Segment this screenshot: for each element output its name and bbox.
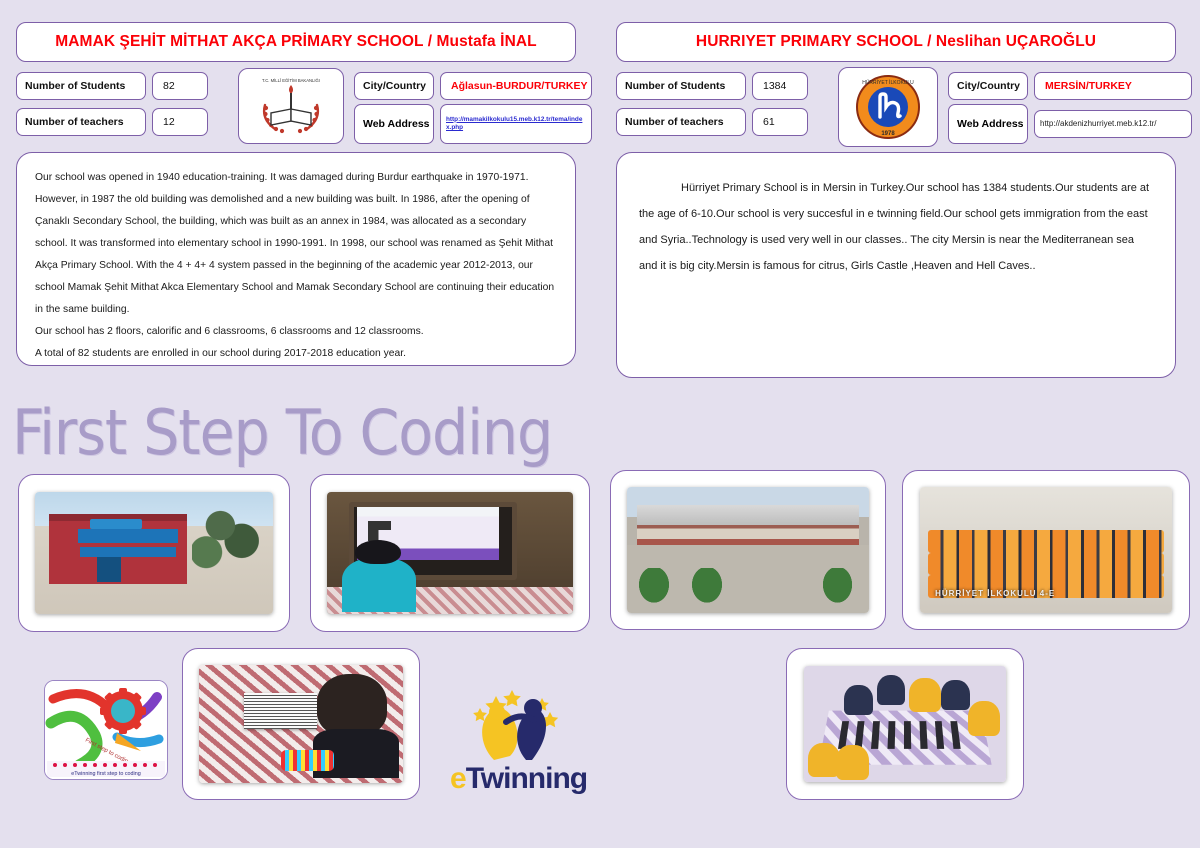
school-yard-photo [627, 487, 869, 613]
school-building-photo [35, 492, 273, 614]
description-paragraph: Hürriyet Primary School is in Mersin in … [639, 175, 1153, 279]
school-title-left: MAMAK ŞEHİT MİTHAT AKÇA PRİMARY SCHOOL /… [55, 33, 537, 51]
etwinning-rest: Twinning [466, 762, 587, 795]
city-value-left: Ağlasun-BURDUR/TURKEY [440, 72, 592, 100]
students-value-left: 82 [152, 72, 208, 100]
web-address-label-left: Web Address [354, 104, 434, 144]
ministry-logo-caption: T.C. MİLLÎ EĞİTİM BAKANLIĞI [262, 78, 320, 83]
students-label-right: Number of Students [616, 72, 746, 100]
turkish-ministry-of-education-emblem-icon: T.C. MİLLÎ EĞİTİM BAKANLIĞI [255, 75, 327, 137]
student-worksheet-photo [199, 665, 403, 783]
city-label-left: City/Country [354, 72, 434, 100]
students-activity-photo [804, 666, 1006, 782]
photo-frame-class-group: HÜRRİYET İLKOKULU 4-E [902, 470, 1190, 630]
etwinning-logo-left: eTwinning [450, 686, 586, 796]
photo-frame-student-computer [310, 474, 590, 632]
school-title-card-right: HURRIYET PRIMARY SCHOOL / Neslihan UÇARO… [616, 22, 1176, 62]
web-address-link-right[interactable]: http://akdenizhurriyet.meb.k12.tr/ [1040, 119, 1157, 129]
web-address-cell-right[interactable]: http://akdenizhurriyet.meb.k12.tr/ [1034, 110, 1192, 138]
etwinning-wordmark-left: eTwinning [450, 762, 586, 796]
description-paragraph: Our school has 2 floors, calorific and 6… [35, 321, 557, 343]
description-paragraph: Our school was opened in 1940 education-… [35, 167, 557, 321]
hurriyet-school-logo-card: HÜRRİYET İLKOKULU 1978 [838, 67, 938, 147]
description-paragraph: A total of 82 students are enrolled in o… [35, 343, 557, 365]
students-value-right: 1384 [752, 72, 808, 100]
photo-frame-school-yard [610, 470, 886, 630]
hurriyet-logo-year: 1978 [881, 131, 895, 137]
class-group-photo: HÜRRİYET İLKOKULU 4-E [920, 487, 1172, 613]
panel-left: MAMAK ŞEHİT MİTHAT AKÇA PRİMARY SCHOOL /… [0, 0, 600, 848]
photo-frame-student-worksheet [182, 648, 420, 800]
photo-frame-students-activity [786, 648, 1024, 800]
student-at-computer-photo [327, 492, 573, 614]
wordart-title-left: First Step To Coding [12, 398, 604, 470]
class-photo-caption: HÜRRİYET İLKOKULU 4-E [935, 589, 1055, 598]
teachers-label-right: Number of teachers [616, 108, 746, 136]
poster-page: MAMAK ŞEHİT MİTHAT AKÇA PRİMARY SCHOOL /… [0, 0, 1200, 848]
hurriyet-ilkokulu-emblem-icon: HÜRRİYET İLKOKULU 1978 [854, 73, 922, 141]
teachers-label-left: Number of teachers [16, 108, 146, 136]
description-card-left: Our school was opened in 1940 education-… [16, 152, 576, 366]
web-address-link-left[interactable]: http://mamakilkokulu15.meb.k12.tr/tema/i… [446, 116, 586, 133]
web-address-cell-left[interactable]: http://mamakilkokulu15.meb.k12.tr/tema/i… [440, 104, 592, 144]
students-label-left: Number of Students [16, 72, 146, 100]
teachers-value-right: 61 [752, 108, 808, 136]
coding-logo-footer: eTwinning first step to coding [71, 771, 141, 777]
description-card-right: Hürriyet Primary School is in Mersin in … [616, 152, 1176, 378]
teachers-value-left: 12 [152, 108, 208, 136]
info-strip-right: Number of Students 1384 Number of teache… [616, 70, 1176, 148]
etwinning-e: e [450, 762, 466, 795]
ministry-of-education-logo-card: T.C. MİLLÎ EĞİTİM BAKANLIĞI [238, 68, 344, 144]
info-strip-left: Number of Students 82 Number of teachers… [16, 70, 576, 148]
school-title-card-left: MAMAK ŞEHİT MİTHAT AKÇA PRİMARY SCHOOL /… [16, 22, 576, 62]
web-address-label-right: Web Address [948, 104, 1028, 144]
first-step-to-coding-logo-left: First step to coding eTwinning first ste… [44, 680, 168, 780]
coding-project-logo-icon: First step to coding eTwinning first ste… [45, 681, 167, 779]
photo-frame-school-building [18, 474, 290, 632]
etwinning-figures-icon [450, 686, 586, 768]
city-label-right: City/Country [948, 72, 1028, 100]
city-value-right: MERSİN/TURKEY [1034, 72, 1192, 100]
school-title-right: HURRIYET PRIMARY SCHOOL / Neslihan UÇARO… [696, 33, 1096, 51]
panel-right: HURRIYET PRIMARY SCHOOL / Neslihan UÇARO… [600, 0, 1200, 848]
hurriyet-logo-caption: HÜRRİYET İLKOKULU [862, 79, 914, 86]
